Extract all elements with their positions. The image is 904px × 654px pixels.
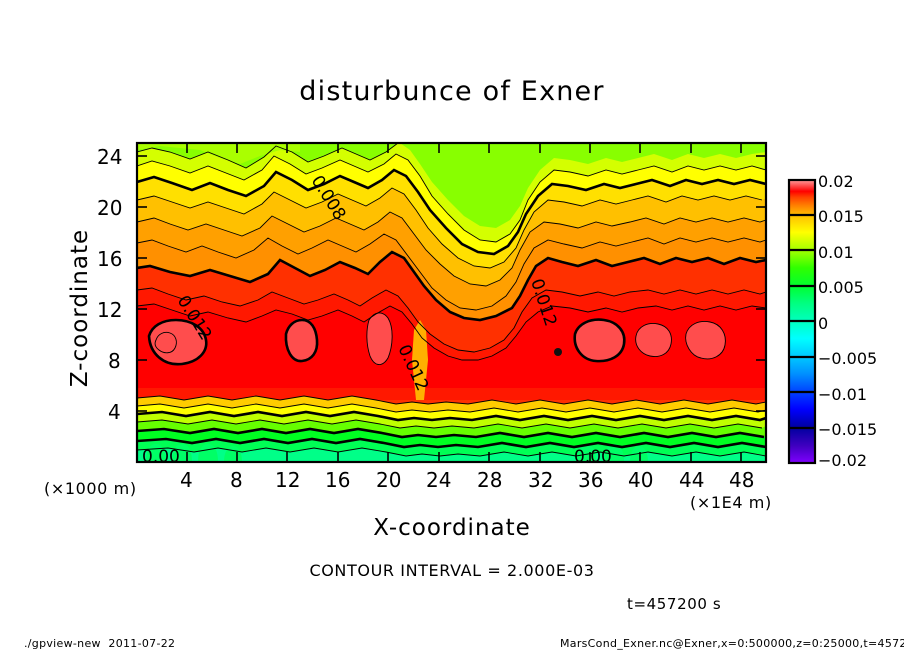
contour-plot-area: 0.012 0.008 0.012 0.012 0.00 0.00 — [0, 0, 904, 654]
colorbar-tick-label: −0.01 — [818, 385, 867, 404]
y-tick-label: 12 — [97, 298, 122, 322]
y-axis-units: (×1000 m) — [44, 479, 137, 498]
colorbar-tick-label: 0.01 — [818, 243, 854, 262]
x-tick-label: 12 — [275, 468, 300, 492]
y-axis-title: Z-coordinate — [67, 198, 93, 418]
x-tick-label: 4 — [180, 468, 193, 492]
y-tick-label: 8 — [108, 349, 121, 373]
x-tick-label: 8 — [230, 468, 243, 492]
colorbar-tick-label: −0.005 — [818, 349, 877, 368]
colorbar-tick-label: 0.005 — [818, 278, 864, 297]
x-tick-label: 48 — [729, 468, 754, 492]
footer-command: ./gpview-new 2011-07-22 — [24, 637, 175, 650]
x-axis-title: X-coordinate — [137, 515, 767, 541]
colorbar-tick-label: 0.015 — [818, 207, 864, 226]
y-tick-label: 4 — [108, 400, 121, 424]
colorbar-tick-label: 0.02 — [818, 172, 854, 191]
y-tick-label: 20 — [97, 196, 122, 220]
x-tick-label: 24 — [426, 468, 451, 492]
x-tick-label: 44 — [679, 468, 704, 492]
time-stamp: t=457200 s — [627, 595, 721, 613]
x-tick-label: 16 — [325, 468, 350, 492]
x-tick-label: 20 — [376, 468, 401, 492]
colorbar — [789, 180, 815, 463]
x-tick-label: 32 — [528, 468, 553, 492]
contour-field: 0.012 0.008 0.012 0.012 0.00 0.00 — [137, 143, 766, 467]
footer-dataset: MarsCond_Exner.nc@Exner,x=0:500000,z=0:2… — [560, 637, 904, 650]
colorbar-tick-label: −0.015 — [818, 420, 877, 439]
x-tick-label: 28 — [477, 468, 502, 492]
x-tick-label: 36 — [578, 468, 603, 492]
colorbar-tick-label: −0.02 — [818, 451, 867, 470]
x-axis-units: (×1E4 m) — [690, 493, 772, 512]
y-tick-label: 24 — [97, 145, 122, 169]
contour-interval-note: CONTOUR INTERVAL = 2.000E-03 — [0, 561, 904, 580]
x-tick-label: 40 — [628, 468, 653, 492]
contour-label: 0.00 — [142, 447, 180, 467]
contour-label: 0.00 — [574, 447, 612, 467]
figure-canvas: disturbunce of Exner — [0, 0, 904, 654]
colorbar-tick-label: 0 — [818, 314, 828, 333]
y-tick-label: 16 — [97, 247, 122, 271]
